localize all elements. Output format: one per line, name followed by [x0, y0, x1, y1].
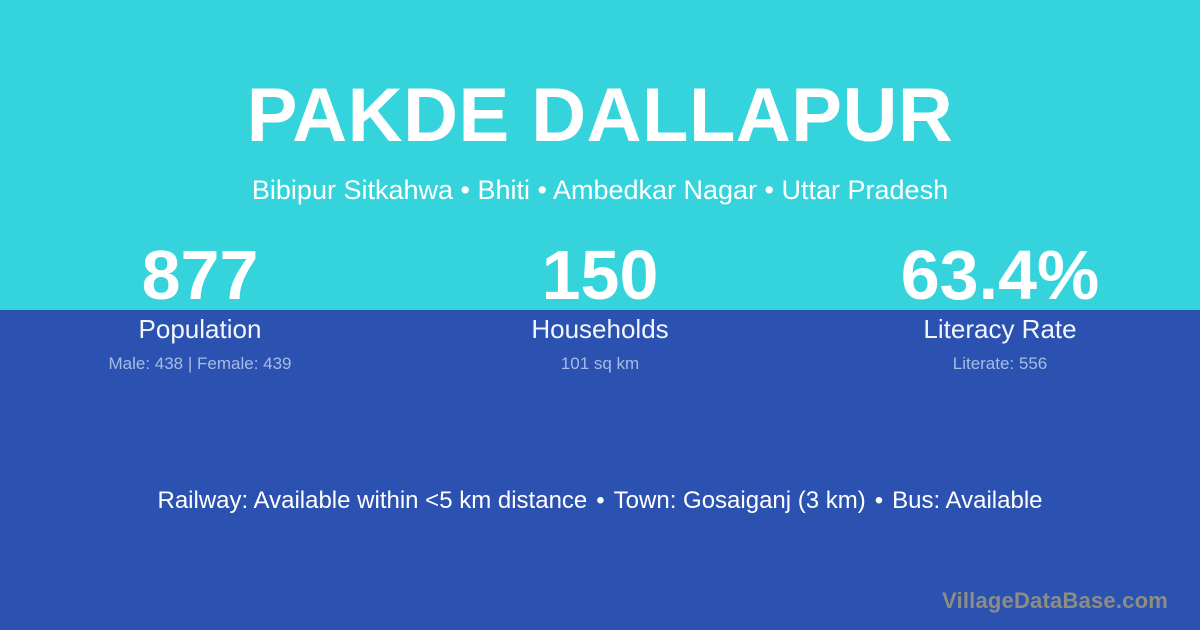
facility-separator-1: • — [587, 487, 613, 516]
facility-railway: Railway: Available within <5 km distance — [157, 487, 587, 514]
watermark-villagedatabase: VillageDataBase.com — [942, 588, 1168, 614]
stat-population: 877 Population Male: 438 | Female: 439 — [0, 240, 400, 375]
stat-label-literacy-rate: Literacy Rate — [800, 314, 1200, 345]
facility-town: Town: Gosaiganj (3 km) — [614, 487, 866, 514]
stats-row: 877 Population Male: 438 | Female: 439 1… — [0, 240, 1200, 375]
facility-bus: Bus: Available — [892, 487, 1042, 514]
stat-sub-population: Male: 438 | Female: 439 — [0, 354, 400, 374]
breadcrumb: Bibipur Sitkahwa • Bhiti • Ambedkar Naga… — [0, 176, 1200, 206]
facilities-line: Railway: Available within <5 km distance… — [0, 487, 1200, 516]
facility-separator-2: • — [866, 487, 892, 516]
stat-label-households: Households — [400, 314, 800, 345]
stat-label-population: Population — [0, 314, 400, 345]
village-info-card: PAKDE DALLAPUR Bibipur Sitkahwa • Bhiti … — [0, 0, 1200, 630]
stat-value-households: 150 — [400, 240, 800, 310]
card-header: PAKDE DALLAPUR Bibipur Sitkahwa • Bhiti … — [0, 0, 1200, 206]
stat-literacy-rate: 63.4% Literacy Rate Literate: 556 — [800, 240, 1200, 375]
stat-value-literacy-rate: 63.4% — [800, 240, 1200, 310]
stat-households: 150 Households 101 sq km — [400, 240, 800, 375]
stat-sub-literacy-rate: Literate: 556 — [800, 354, 1200, 374]
page-title: PAKDE DALLAPUR — [0, 78, 1200, 154]
stat-value-population: 877 — [0, 240, 400, 310]
stat-sub-households: 101 sq km — [400, 354, 800, 374]
